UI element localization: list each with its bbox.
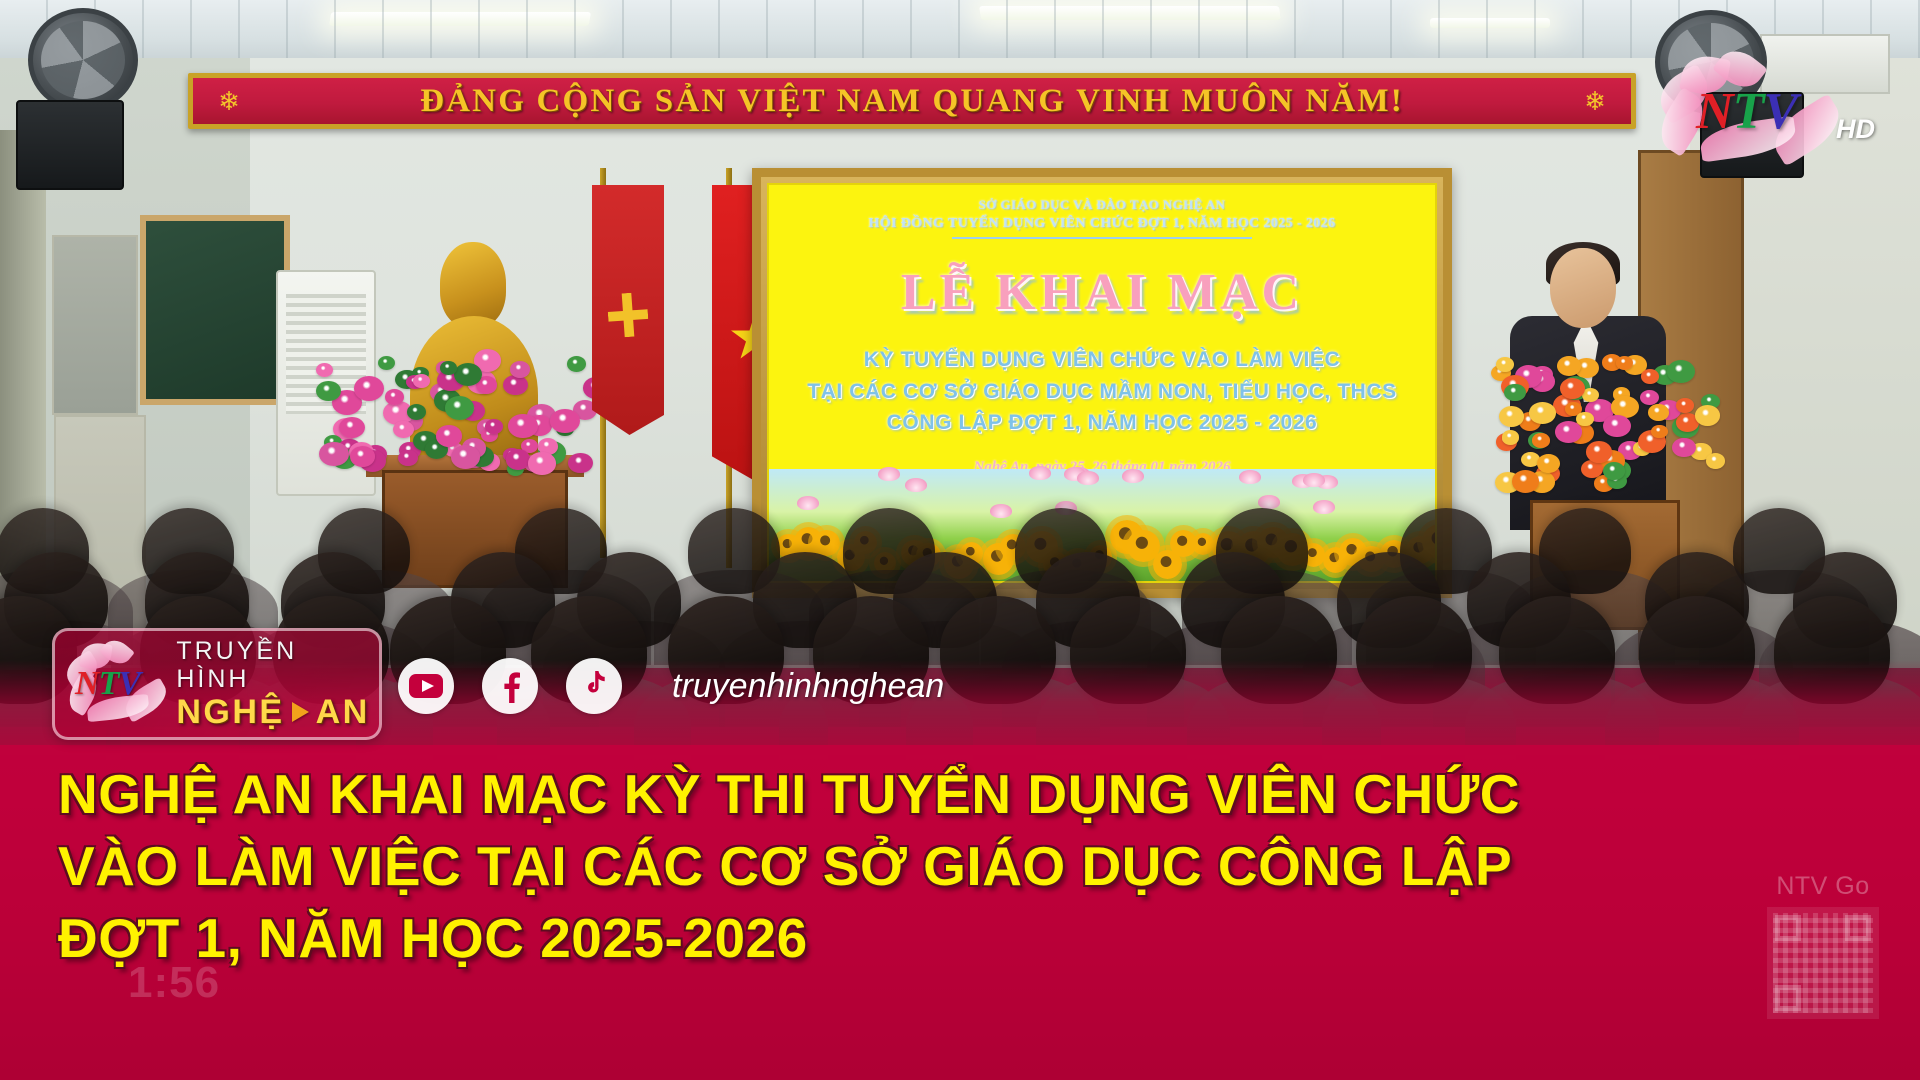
headline-line-1: NGHỆ AN KHAI MẠC KỲ THI TUYỂN DỤNG VIÊN … (58, 758, 1718, 830)
brand-text: TRUYỀN HÌNH NGHỆ AN (176, 637, 379, 731)
brand-line-2-a: NGHỆ (176, 693, 284, 731)
flower-arrangement (1488, 352, 1728, 502)
ntv-letter-n: N (75, 665, 99, 702)
banner-org-line-2: HỘI ĐỒNG TUYỂN DỤNG VIÊN CHỨC ĐỢT 1, NĂM… (769, 216, 1435, 234)
ntv-brand-logo: NTV (63, 641, 170, 727)
brand-line-1: TRUYỀN HÌNH (176, 637, 379, 693)
ntv-brand-box: NTV TRUYỀN HÌNH NGHỆ AN (52, 628, 382, 740)
banner-org-line-1: SỞ GIÁO DỤC VÀ ĐÀO TẠO NGHỆ AN (769, 197, 1435, 213)
ceiling-light (1430, 18, 1550, 28)
banner-title: LỄ KHAI MẠC (769, 263, 1435, 322)
youtube-button[interactable] (398, 658, 454, 714)
headline-line-2: VÀO LÀM VIỆC TẠI CÁC CƠ SỞ GIÁO DỤC CÔNG… (58, 830, 1718, 902)
video-timecode: 1:56 (128, 958, 220, 1008)
ntv-letter-v: V (118, 665, 140, 702)
banner-subtitle-line-3: CÔNG LẬP ĐỢT 1, NĂM HỌC 2025 - 2026 (769, 407, 1435, 439)
play-triangle-icon (292, 702, 309, 722)
communist-party-flag (592, 185, 664, 435)
ceiling-light (979, 6, 1281, 20)
banner-subtitle: KỲ TUYỂN DỤNG VIÊN CHỨC VÀO LÀM VIỆC TẠI… (769, 344, 1435, 439)
qr-code-icon (1767, 907, 1879, 1019)
ntv-letter-v: V (1763, 83, 1797, 140)
video-frame: ❄ ĐẢNG CỘNG SẢN VIỆT NAM QUANG VINH MUÔN… (0, 0, 1920, 1080)
brand-line-2: NGHỆ AN (176, 693, 379, 731)
tiktok-button[interactable] (566, 658, 622, 714)
ntv-hd-channel-logo: NTV HD (1648, 52, 1878, 162)
ntv-wordmark: NTV (75, 667, 140, 701)
flower-arrangement (316, 348, 616, 488)
headline-line-3: ĐỢT 1, NĂM HỌC 2025-2026 (58, 902, 1718, 974)
banner-divider (952, 237, 1252, 239)
wall-panel (52, 235, 138, 415)
facebook-icon (495, 669, 525, 703)
lotus-icon: ❄ (1575, 88, 1615, 114)
headline: NGHỆ AN KHAI MẠC KỲ THI TUYỂN DỤNG VIÊN … (58, 758, 1718, 974)
blackboard (140, 215, 290, 405)
tiktok-icon (578, 669, 610, 703)
ceiling-light (329, 12, 591, 26)
brand-line-2-b: AN (316, 693, 370, 731)
social-media-bar: truyenhinhnghean (398, 650, 944, 722)
party-slogan-banner: ❄ ĐẢNG CỘNG SẢN VIỆT NAM QUANG VINH MUÔN… (188, 73, 1636, 129)
ntv-go-label: NTV Go (1748, 872, 1898, 901)
ntv-wordmark: NTV (1696, 86, 1797, 138)
ntv-letter-n: N (1696, 83, 1733, 140)
facebook-button[interactable] (482, 658, 538, 714)
ntv-go-promo: NTV Go (1748, 872, 1898, 1052)
loudspeaker (16, 100, 124, 190)
social-handle: truyenhinhnghean (672, 667, 944, 706)
hd-label: HD (1836, 114, 1875, 145)
party-slogan-text: ĐẢNG CỘNG SẢN VIỆT NAM QUANG VINH MUÔN N… (420, 83, 1404, 120)
banner-subtitle-line-2: TẠI CÁC CƠ SỞ GIÁO DỤC MẦM NON, TIỂU HỌC… (769, 376, 1435, 408)
youtube-icon (409, 674, 443, 698)
ntv-letter-t: T (1733, 83, 1764, 140)
lotus-icon: ❄ (209, 88, 249, 114)
ceiling-fan-icon (28, 8, 138, 112)
ntv-letter-t: T (99, 665, 119, 702)
banner-subtitle-line-1: KỲ TUYỂN DỤNG VIÊN CHỨC VÀO LÀM VIỆC (769, 344, 1435, 376)
